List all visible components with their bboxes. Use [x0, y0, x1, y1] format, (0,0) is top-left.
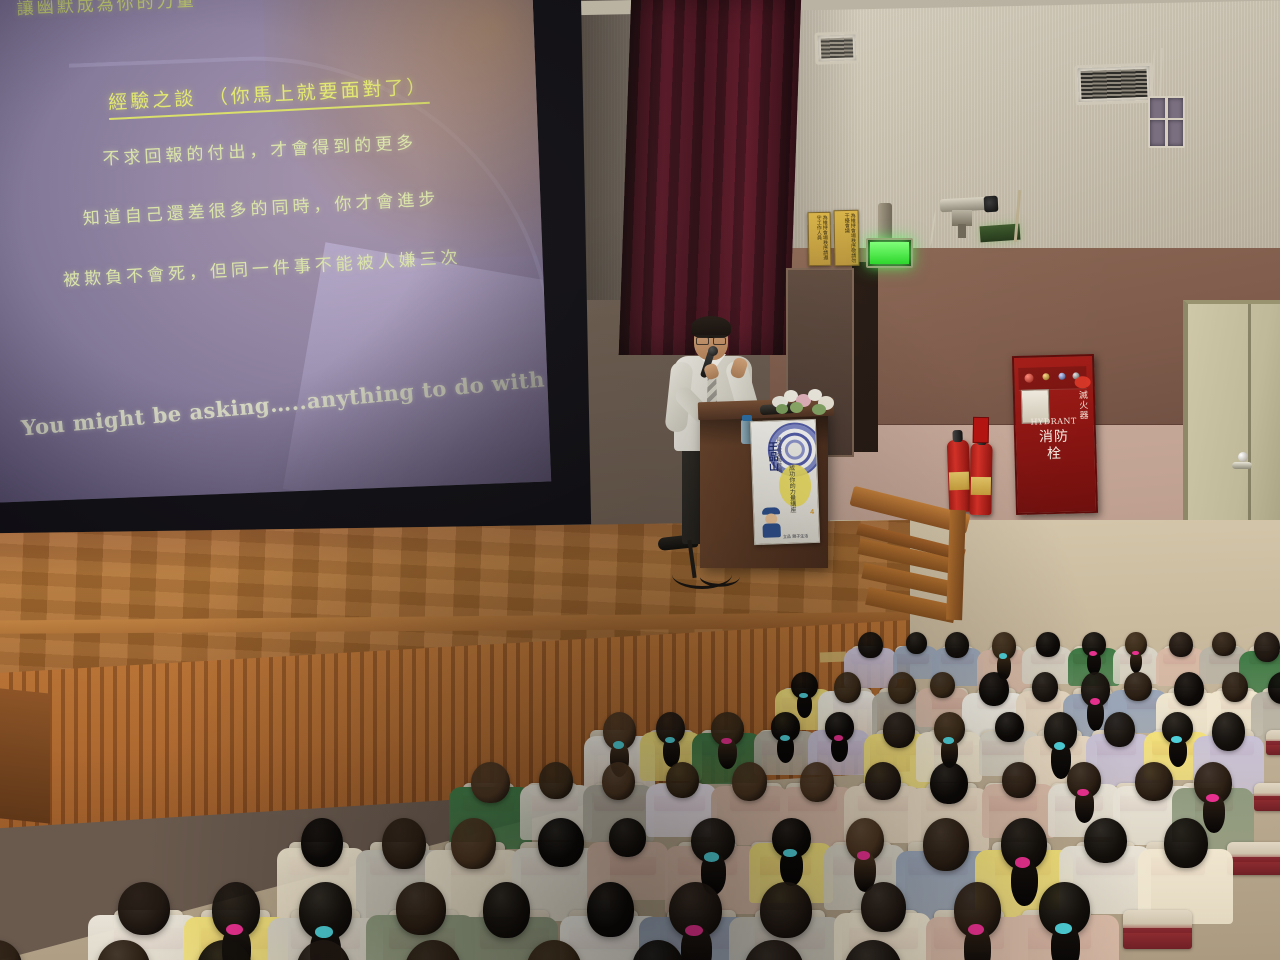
audience-member-head	[301, 818, 343, 867]
audience-member-head	[666, 762, 699, 798]
poster-logo-text: 立品 親子生活	[783, 533, 808, 540]
auditorium-seat[interactable]	[1266, 730, 1280, 755]
poster-cartoon-figure	[760, 507, 783, 538]
audience-member-head	[538, 818, 584, 867]
audience-member-head	[888, 672, 916, 704]
backstage-opening	[852, 262, 878, 452]
notice-sign: 為維持會場秩序敬請勿干擾會議	[834, 210, 860, 266]
wall-outlet-icon[interactable]	[1166, 118, 1185, 148]
flower-leaf	[776, 404, 788, 414]
audience-member-head	[1164, 818, 1208, 868]
audience-member-head	[396, 882, 447, 935]
audience-member-head	[930, 672, 955, 698]
audience-member-head	[906, 632, 928, 654]
fire-extinguisher[interactable]	[969, 443, 992, 515]
water-bottle-cap	[742, 415, 752, 421]
hair-tie-icon	[1015, 857, 1030, 867]
poster-number: 4	[810, 509, 814, 516]
stage-curtain	[619, 0, 802, 355]
audience-member-head	[800, 762, 834, 802]
audience-member-head	[1254, 632, 1280, 662]
audience-member-head	[1032, 672, 1058, 702]
wall-outlet-icon[interactable]	[1148, 118, 1167, 148]
poster-body-text: 成功你的力量講座	[786, 465, 797, 513]
hair-tie-icon	[799, 693, 808, 698]
hair-tie-icon	[665, 737, 675, 743]
audience-member-head	[995, 712, 1023, 742]
door-knob-icon[interactable]	[1238, 452, 1248, 462]
audience-member-head	[883, 712, 916, 748]
hair-tie-icon	[780, 735, 790, 741]
hair-tie-icon	[613, 741, 624, 749]
audience-member-head	[861, 882, 906, 932]
hair-tie-icon	[834, 735, 844, 741]
audience-member-head	[1212, 712, 1245, 751]
camera-lens-icon	[984, 196, 999, 213]
hair-tie-icon	[1171, 736, 1182, 742]
hair-tie-icon	[943, 737, 953, 744]
hydrant-chinese-label: 消防栓	[1034, 429, 1075, 464]
hydrant-english-label: HYDRANT	[1025, 416, 1083, 427]
hair-tie-icon	[1077, 789, 1088, 796]
stage-plaque	[820, 652, 846, 663]
audience-member-head	[1124, 672, 1152, 701]
projection-screen-frame: 讓幽默成為你的力量 經驗之談 （你馬上就要面對了） 不求回報的付出，才會得到的更…	[0, 0, 591, 536]
audience-member-head	[1084, 818, 1127, 863]
audience-member-head	[587, 882, 634, 937]
auditorium-photo: 為維持會場秩序請遵守工作人員 為維持會場秩序敬請勿干擾會議 滅火器 HYDRAN…	[0, 0, 1280, 960]
audience-member-head	[0, 940, 22, 960]
hydrant-seal-icon	[1074, 376, 1090, 388]
air-vent-icon	[1074, 63, 1153, 106]
audience-member-head	[923, 818, 969, 871]
audience-member-head	[539, 762, 572, 799]
audience-member-head	[1169, 632, 1193, 657]
audience-member-head	[1135, 762, 1173, 801]
exit-sign-mount	[878, 203, 892, 241]
door-handle-icon[interactable]	[1232, 462, 1252, 469]
auditorium-seat[interactable]	[1227, 842, 1280, 875]
audience-member-head	[602, 762, 635, 800]
screen-vignette	[0, 0, 551, 503]
fire-hydrant-cabinet[interactable]: 滅火器 HYDRANT 消防栓	[1012, 354, 1098, 515]
hair-tie-icon	[1054, 742, 1065, 750]
notice-sign-text: 為維持會場秩序請遵守工作人員	[811, 215, 829, 263]
hair-tie-icon	[1055, 923, 1072, 934]
audience-member-head	[471, 762, 510, 803]
flower-arrangement	[770, 388, 836, 418]
exit-sign-icon	[866, 238, 913, 268]
audience-member-head	[1002, 762, 1036, 798]
audience-member-head	[1212, 632, 1235, 656]
audience-member-head	[382, 818, 426, 869]
audience-member-head	[1222, 672, 1248, 702]
audience-member-head	[1174, 672, 1204, 706]
audience-member-head	[609, 818, 646, 857]
flower-leaf	[790, 402, 803, 413]
glasses-icon	[696, 335, 726, 343]
audience-member-head	[1104, 712, 1135, 747]
microphone-head-icon	[708, 346, 718, 356]
hair-tie-icon	[315, 926, 333, 938]
hair-tie-icon	[1206, 794, 1219, 802]
camera-arm	[958, 224, 966, 238]
podium-poster: 王品山 用心做好每件事 成功你的力量講座 4 立品 親子生活	[750, 419, 820, 545]
audience-member-head	[451, 818, 496, 869]
notice-sign: 為維持會場秩序請遵守工作人員	[808, 212, 832, 266]
poster-subtitle: 用心做好每件事	[775, 437, 783, 472]
audience-member-head	[760, 882, 812, 938]
auditorium-seat[interactable]	[1123, 910, 1192, 948]
stage-left-block	[0, 686, 50, 823]
audience-member-head	[930, 762, 968, 804]
hair-tie-icon	[704, 852, 719, 861]
air-vent-icon	[814, 31, 859, 65]
audience-member-head	[865, 762, 901, 800]
audience-member-head	[945, 632, 969, 658]
audience-member-head	[732, 762, 768, 801]
audience-member-head	[858, 632, 882, 658]
hair-tie-icon	[783, 849, 796, 857]
audience-member-head	[118, 882, 170, 935]
hair-tie-icon	[857, 851, 870, 860]
notice-sign-text: 為維持會場秩序敬請勿干擾會議	[837, 213, 857, 263]
auditorium-seat[interactable]	[1254, 783, 1280, 812]
fire-extinguisher[interactable]	[947, 440, 971, 513]
audience-member-head	[483, 882, 531, 938]
audience-member-head	[1036, 632, 1060, 657]
flower-leaf	[812, 404, 826, 415]
audience-member-head	[979, 672, 1009, 706]
audience-member-head	[834, 672, 861, 703]
projection-screen: 讓幽默成為你的力量 經驗之談 （你馬上就要面對了） 不求回報的付出，才會得到的更…	[0, 0, 551, 503]
